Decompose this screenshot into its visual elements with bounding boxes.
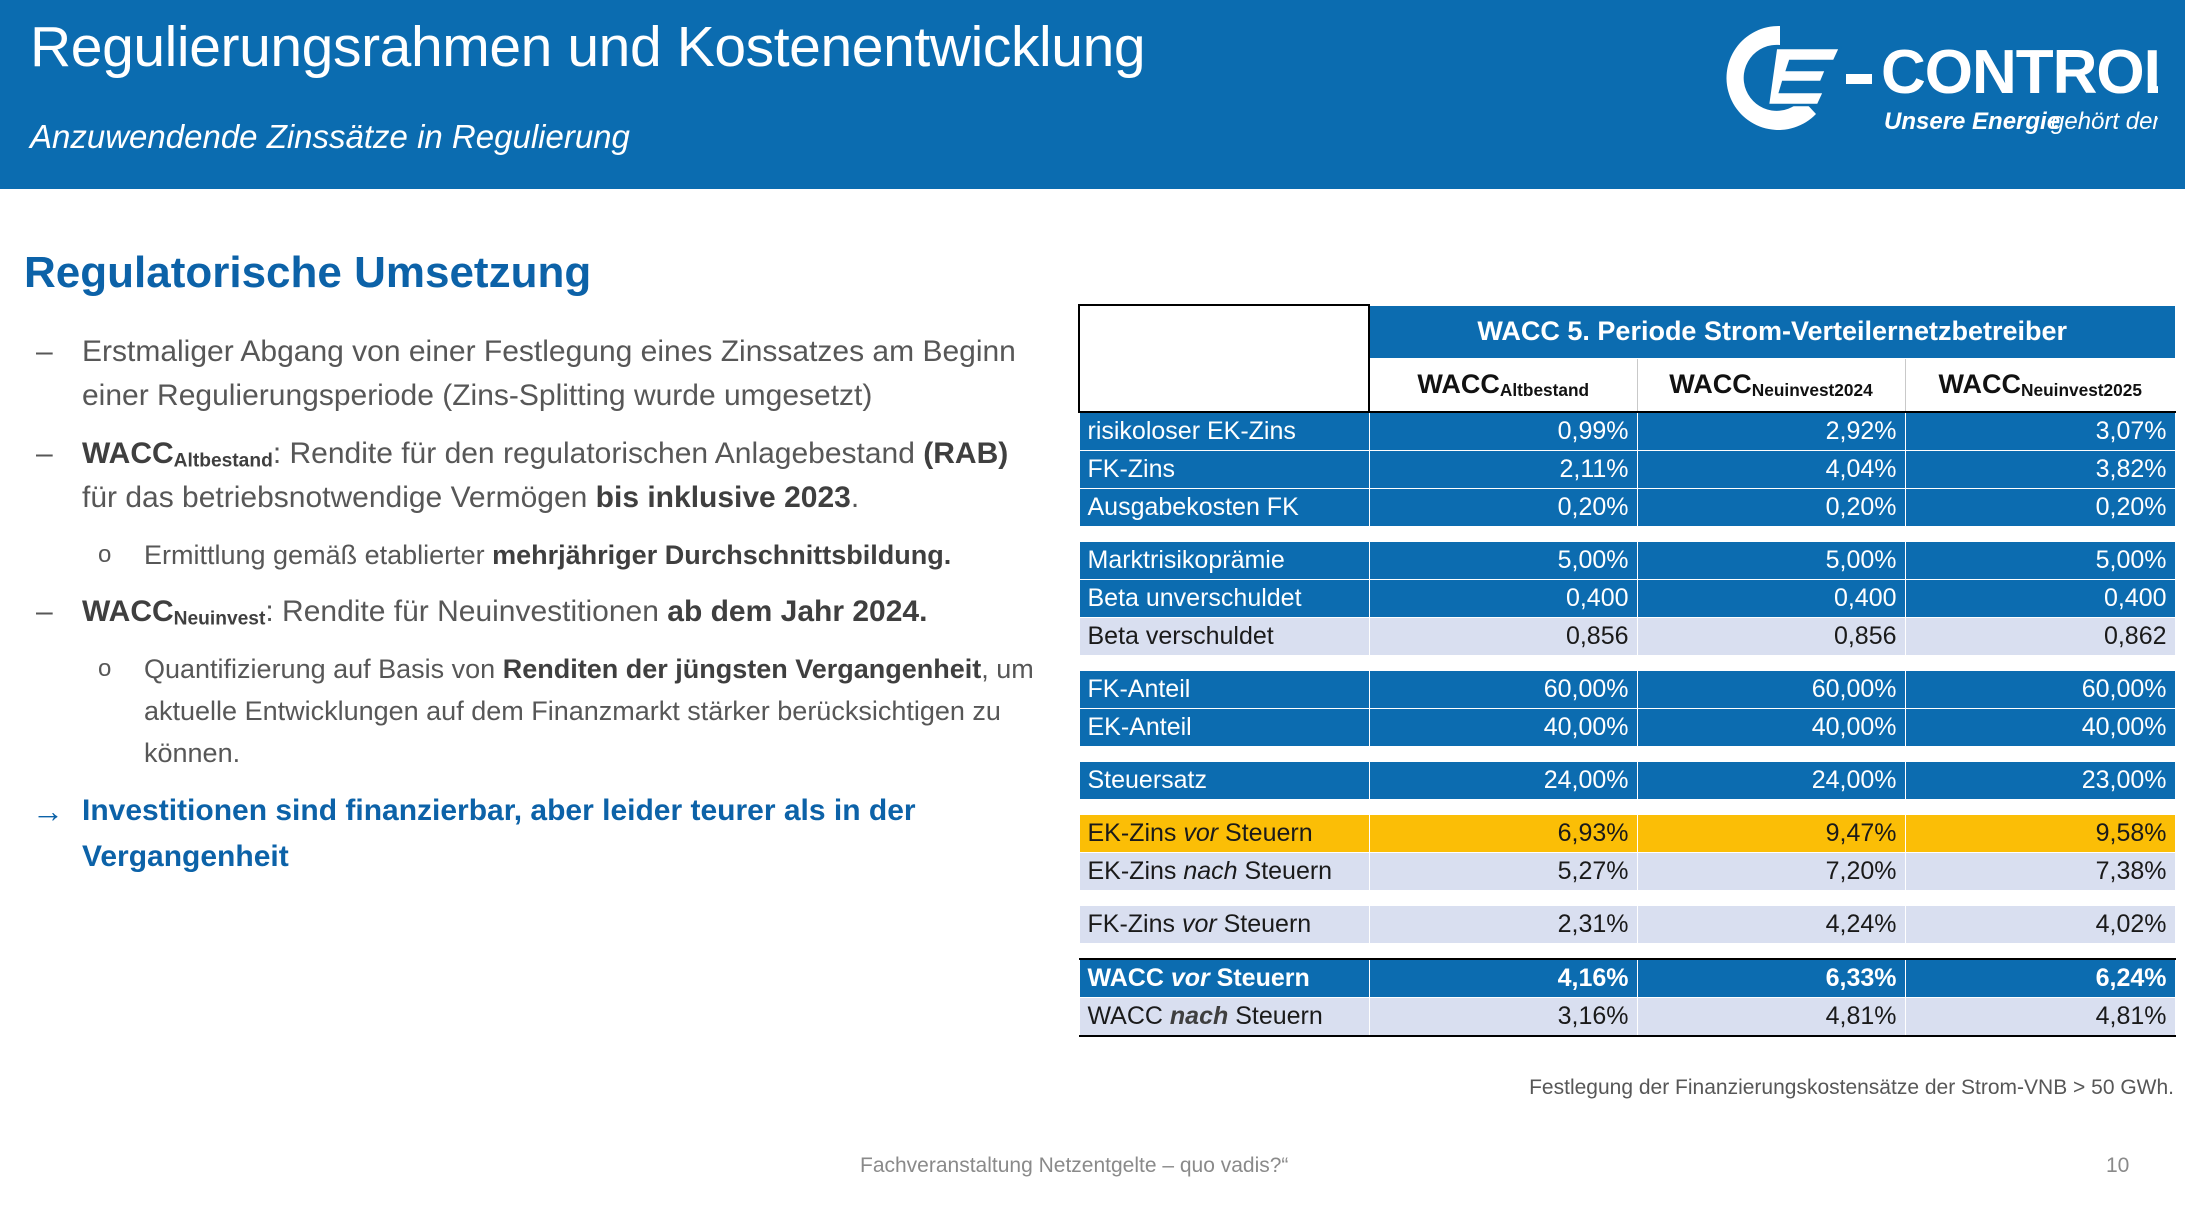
row-value: 23,00% — [1905, 761, 2175, 799]
bullet-item: – WACCAltbestand: Rendite für den regula… — [18, 432, 1038, 520]
bullet-text: Quantifizierung auf Basis von Renditen d… — [144, 654, 1034, 768]
bullet-item-sub: o Ermittlung gemäß etablierter mehrjähri… — [18, 534, 1038, 576]
bullet-text: WACCAltbestand: Rendite für den regulato… — [82, 437, 1008, 514]
row-value: 6,93% — [1369, 814, 1637, 852]
table-column-header-row: WACCAltbestand WACCNeuinvest2024 WACCNeu… — [1079, 358, 2175, 412]
table-row: FK-Anteil 60,00% 60,00% 60,00% — [1079, 670, 2175, 708]
row-value: 0,856 — [1637, 617, 1905, 655]
table-row-highlight: EK-Zins vor Steuern 6,93% 9,47% 9,58% — [1079, 814, 2175, 852]
row-value: 2,31% — [1369, 905, 1637, 943]
wacc-table-wrapper: WACC 5. Periode Strom-Verteilernetzbetre… — [1078, 304, 2174, 1037]
row-label: risikoloser EK-Zins — [1079, 412, 1369, 451]
row-value: 4,04% — [1637, 450, 1905, 488]
row-label: EK-Zins vor Steuern — [1079, 814, 1369, 852]
row-value: 0,20% — [1637, 488, 1905, 526]
row-value: 4,02% — [1905, 905, 2175, 943]
row-value: 5,00% — [1905, 541, 2175, 579]
row-value: 4,16% — [1369, 959, 1637, 998]
row-value: 6,24% — [1905, 959, 2175, 998]
row-value: 0,856 — [1369, 617, 1637, 655]
bullet-text: Ermittlung gemäß etablierter mehrjährige… — [144, 540, 951, 570]
svg-text:Unsere Energie: Unsere Energie — [1884, 108, 2060, 135]
row-label: FK-Zins — [1079, 450, 1369, 488]
table-row: EK-Anteil 40,00% 40,00% 40,00% — [1079, 708, 2175, 746]
row-value: 0,400 — [1369, 579, 1637, 617]
row-label: Beta unverschuldet — [1079, 579, 1369, 617]
row-value: 3,07% — [1905, 412, 2175, 451]
row-value: 3,82% — [1905, 450, 2175, 488]
table-spacer-row — [1079, 526, 2175, 541]
bullet-marker-circle: o — [98, 648, 111, 690]
table-row: Ausgabekosten FK 0,20% 0,20% 0,20% — [1079, 488, 2175, 526]
bullet-list: – Erstmaliger Abgang von einer Festlegun… — [18, 330, 1038, 880]
svg-text:gehört der Zukunft.: gehört der Zukunft. — [2051, 108, 2158, 135]
table-row: EK-Zins nach Steuern 5,27% 7,20% 7,38% — [1079, 852, 2175, 890]
row-value: 7,38% — [1905, 852, 2175, 890]
table-row-total: WACC vor Steuern 4,16% 6,33% 6,24% — [1079, 959, 2175, 998]
bullet-marker-circle: o — [98, 534, 111, 576]
row-value: 5,00% — [1637, 541, 1905, 579]
page-subtitle: Anzuwendende Zinssätze in Regulierung — [30, 118, 630, 156]
bullet-item-sub: o Quantifizierung auf Basis von Renditen… — [18, 648, 1038, 774]
row-value: 4,24% — [1637, 905, 1905, 943]
row-label: Steuersatz — [1079, 761, 1369, 799]
row-value: 60,00% — [1637, 670, 1905, 708]
row-value: 40,00% — [1637, 708, 1905, 746]
footer-event: Fachveranstaltung Netzentgelte – quo vad… — [860, 1154, 1288, 1178]
table-row: FK-Zins vor Steuern 2,31% 4,24% 4,02% — [1079, 905, 2175, 943]
row-value: 9,58% — [1905, 814, 2175, 852]
conclusion-item: → Investitionen sind finanzierbar, aber … — [18, 788, 1038, 880]
bullet-item: – Erstmaliger Abgang von einer Festlegun… — [18, 330, 1038, 418]
row-value: 9,47% — [1637, 814, 1905, 852]
row-value: 24,00% — [1369, 761, 1637, 799]
row-label: EK-Zins nach Steuern — [1079, 852, 1369, 890]
row-value: 60,00% — [1369, 670, 1637, 708]
row-value: 40,00% — [1369, 708, 1637, 746]
row-label: Marktrisikoprämie — [1079, 541, 1369, 579]
footer-page-number: 10 — [2106, 1154, 2129, 1178]
row-value: 5,27% — [1369, 852, 1637, 890]
table-corner-cell-2 — [1079, 358, 1369, 412]
row-value: 6,33% — [1637, 959, 1905, 998]
row-value: 7,20% — [1637, 852, 1905, 890]
row-value: 4,81% — [1637, 997, 1905, 1036]
column-header-neuinvest2024: WACCNeuinvest2024 — [1637, 358, 1905, 412]
row-value: 0,99% — [1369, 412, 1637, 451]
row-label: WACC vor Steuern — [1079, 959, 1369, 998]
table-caption: Festlegung der Finanzierungskostensätze … — [1078, 1076, 2174, 1100]
table-group-header-row: WACC 5. Periode Strom-Verteilernetzbetre… — [1079, 305, 2175, 358]
row-value: 2,11% — [1369, 450, 1637, 488]
row-label: EK-Anteil — [1079, 708, 1369, 746]
table-row: FK-Zins 2,11% 4,04% 3,82% — [1079, 450, 2175, 488]
column-header-altbestand: WACCAltbestand — [1369, 358, 1637, 412]
row-value: 2,92% — [1637, 412, 1905, 451]
row-value: 0,20% — [1905, 488, 2175, 526]
row-label: Beta verschuldet — [1079, 617, 1369, 655]
table-row: Beta unverschuldet 0,400 0,400 0,400 — [1079, 579, 2175, 617]
table-spacer-row — [1079, 746, 2175, 761]
bullet-marker-dash: – — [36, 590, 53, 634]
row-value: 40,00% — [1905, 708, 2175, 746]
bullet-marker-dash: – — [36, 432, 53, 476]
row-value: 24,00% — [1637, 761, 1905, 799]
row-value: 0,400 — [1637, 579, 1905, 617]
table-spacer-row — [1079, 890, 2175, 905]
wacc-table: WACC 5. Periode Strom-Verteilernetzbetre… — [1078, 304, 2176, 1037]
row-value: 4,81% — [1905, 997, 2175, 1036]
row-value: 60,00% — [1905, 670, 2175, 708]
table-corner-cell — [1079, 305, 1369, 358]
row-value: 0,400 — [1905, 579, 2175, 617]
table-spacer-row — [1079, 655, 2175, 670]
table-row: Steuersatz 24,00% 24,00% 23,00% — [1079, 761, 2175, 799]
row-label: FK-Zins vor Steuern — [1079, 905, 1369, 943]
table-row: Marktrisikoprämie 5,00% 5,00% 5,00% — [1079, 541, 2175, 579]
table-spacer-row — [1079, 799, 2175, 814]
bullet-marker-dash: – — [36, 330, 53, 374]
section-heading: Regulatorische Umsetzung — [24, 248, 591, 298]
row-value: 0,20% — [1369, 488, 1637, 526]
table-row: risikoloser EK-Zins 0,99% 2,92% 3,07% — [1079, 412, 2175, 451]
conclusion-text: Investitionen sind finanzierbar, aber le… — [82, 794, 916, 873]
table-row: Beta verschuldet 0,856 0,856 0,862 — [1079, 617, 2175, 655]
row-label: FK-Anteil — [1079, 670, 1369, 708]
svg-text:CONTROL: CONTROL — [1881, 38, 2158, 107]
page-title: Regulierungsrahmen und Kostenentwicklung — [30, 16, 1145, 78]
arrow-right-icon: → — [32, 788, 64, 834]
table-spacer-row — [1079, 943, 2175, 959]
row-value: 3,16% — [1369, 997, 1637, 1036]
column-header-neuinvest2025: WACCNeuinvest2025 — [1905, 358, 2175, 412]
row-value: 0,862 — [1905, 617, 2175, 655]
row-value: 5,00% — [1369, 541, 1637, 579]
e-control-logo: CONTROL Unsere Energie gehört der Zukunf… — [1718, 22, 2158, 140]
bullet-item: – WACCNeuinvest: Rendite für Neuinvestit… — [18, 590, 1038, 634]
bullet-text: Erstmaliger Abgang von einer Festlegung … — [82, 335, 1016, 412]
row-label: WACC nach Steuern — [1079, 997, 1369, 1036]
slide: Regulierungsrahmen und Kostenentwicklung… — [0, 0, 2185, 1227]
table-group-header: WACC 5. Periode Strom-Verteilernetzbetre… — [1369, 305, 2175, 358]
row-label: Ausgabekosten FK — [1079, 488, 1369, 526]
table-row-total: WACC nach Steuern 3,16% 4,81% 4,81% — [1079, 997, 2175, 1036]
bullet-text: WACCNeuinvest: Rendite für Neuinvestitio… — [82, 595, 927, 628]
